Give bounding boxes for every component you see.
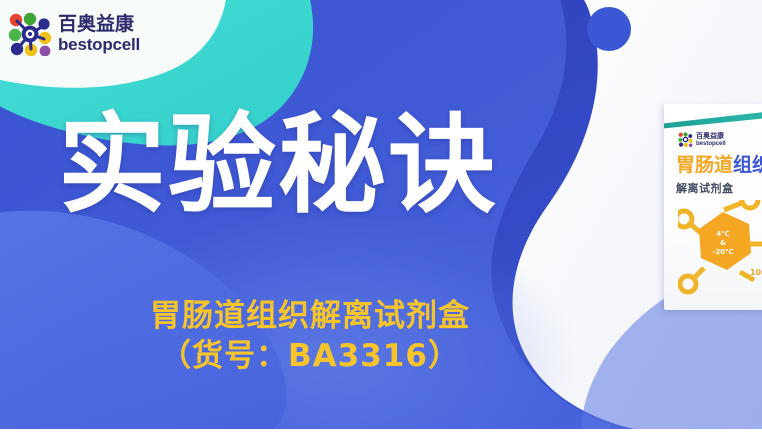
bottom-divider xyxy=(0,429,762,435)
product-box-title-part2: 组织 xyxy=(733,154,762,176)
product-box-face: 百奥益康 bestopcell 胃肠道组织 解离试剂盒 xyxy=(664,104,762,310)
product-box-brand-en: bestopcell xyxy=(696,141,726,147)
brand-name-en: bestopcell xyxy=(58,36,140,53)
product-box-logo: 百奥益康 bestopcell xyxy=(678,132,726,147)
product-name: 胃肠道组织解离试剂盒 xyxy=(0,296,620,336)
product-box-subtitle: 解离试剂盒 xyxy=(676,180,734,196)
box-teal-swoosh xyxy=(664,107,762,129)
brand-name-cn: 百奥益康 xyxy=(58,15,140,34)
badge-temp-line3: -20℃ xyxy=(700,248,746,257)
product-box-image: 百奥益康 bestopcell 胃肠道组织 解离试剂盒 xyxy=(664,104,762,310)
product-box-brand-cn: 百奥益康 xyxy=(696,133,726,140)
product-box-title-part1: 胃肠道 xyxy=(676,154,733,176)
product-box-badge: 4℃ & -20℃ 10mL xyxy=(678,200,762,310)
badge-temperature: 4℃ & -20℃ xyxy=(700,230,746,257)
badge-volume: 10mL xyxy=(750,268,762,277)
product-code: （货号：BA3316） xyxy=(0,336,620,376)
badge-temp-amp: & xyxy=(700,239,746,248)
bestopcell-dot-molecule-logo-small xyxy=(678,132,693,147)
bestopcell-dot-molecule-logo xyxy=(8,12,52,56)
badge-temp-line1: 4℃ xyxy=(700,230,746,239)
page-title: 实验秘诀 xyxy=(58,112,498,220)
promo-poster: 百奥益康 bestopcell 实验秘诀 胃肠道组织解离试剂盒 （货号：BA33… xyxy=(0,0,762,435)
subtitle-block: 胃肠道组织解离试剂盒 （货号：BA3316） xyxy=(0,296,620,376)
decorative-circle xyxy=(587,7,631,51)
brand-logo: 百奥益康 bestopcell xyxy=(8,8,158,60)
brand-wordmark: 百奥益康 bestopcell xyxy=(58,15,140,53)
product-box-wordmark: 百奥益康 bestopcell xyxy=(696,133,726,147)
product-box-title: 胃肠道组织 xyxy=(676,156,762,175)
